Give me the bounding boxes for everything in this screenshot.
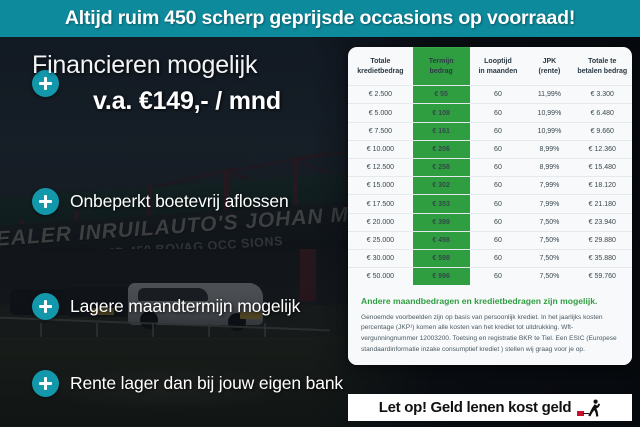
header-line: Totale te — [588, 58, 616, 65]
table-cell: 10,99% — [526, 122, 572, 140]
table-cell: 8,99% — [526, 159, 572, 177]
rates-table: Totale kredietbedrag Termijn bedrag Loop… — [348, 47, 632, 285]
table-cell: 7,50% — [526, 213, 572, 231]
plus-icon — [32, 188, 59, 215]
cell-termijn-bedrag: € 206 — [413, 140, 470, 158]
table-cell: 60 — [470, 231, 527, 249]
header-line: bedrag — [429, 68, 452, 75]
table-cell: € 5.000 — [348, 104, 413, 122]
bullet-label: Onbeperkt boetevrij aflossen — [70, 191, 289, 212]
table-cell: € 35.880 — [573, 249, 632, 267]
rates-table-head: Totale kredietbedrag Termijn bedrag Loop… — [348, 48, 632, 86]
table-cell: € 12.500 — [348, 159, 413, 177]
table-cell: 60 — [470, 249, 527, 267]
table-cell: € 59.760 — [573, 268, 632, 286]
table-row: € 2.500€ 556011,99%€ 3.300 — [348, 86, 632, 104]
column-header-jpk: JPK (rente) — [526, 48, 572, 86]
disclaimer-body: Genoemde voorbeelden zijn op basis van p… — [361, 313, 619, 356]
table-cell: 60 — [470, 140, 527, 158]
table-cell: 7,50% — [526, 231, 572, 249]
table-cell: 7,50% — [526, 249, 572, 267]
table-cell: 60 — [470, 86, 527, 104]
disclaimer-title: Andere maandbedragen en kredietbedragen … — [361, 296, 619, 307]
table-cell: 60 — [470, 213, 527, 231]
table-row: € 15.000€ 302607,99%€ 18.120 — [348, 177, 632, 195]
credit-warning-strip: Let op! Geld lenen kost geld — [348, 394, 632, 421]
table-cell: € 3.300 — [573, 86, 632, 104]
cell-termijn-bedrag: € 302 — [413, 177, 470, 195]
table-cell: € 15.000 — [348, 177, 413, 195]
table-cell: 60 — [470, 104, 527, 122]
cell-termijn-bedrag: € 55 — [413, 86, 470, 104]
header-line: Termijn — [429, 58, 454, 65]
table-cell: 60 — [470, 268, 527, 286]
header-line: betalen bedrag — [577, 68, 627, 75]
bullet-item-rente: Rente lager dan bij jouw eigen bank — [32, 370, 343, 397]
table-cell: € 21.180 — [573, 195, 632, 213]
table-row: € 12.500€ 258608,99%€ 15.480 — [348, 159, 632, 177]
table-cell: 8,99% — [526, 140, 572, 158]
rates-card: Totale kredietbedrag Termijn bedrag Loop… — [348, 47, 632, 365]
table-cell: 60 — [470, 122, 527, 140]
table-row: € 17.500€ 353607,99%€ 21.180 — [348, 195, 632, 213]
table-cell: 11,99% — [526, 86, 572, 104]
table-cell: 60 — [470, 159, 527, 177]
headline-block: Financieren mogelijk v.a. €149,- / mnd — [32, 51, 342, 116]
cell-termijn-bedrag: € 996 — [413, 268, 470, 286]
card-disclaimer: Andere maandbedragen en kredietbedragen … — [348, 285, 632, 365]
running-man-warning-icon — [577, 399, 601, 417]
table-row: € 30.000€ 598607,50%€ 35.880 — [348, 249, 632, 267]
table-cell: € 50.000 — [348, 268, 413, 286]
header-line: Looptijd — [484, 58, 512, 65]
cell-termijn-bedrag: € 258 — [413, 159, 470, 177]
bullet-item-aflossen: Onbeperkt boetevrij aflossen — [32, 188, 289, 215]
header-line: kredietbedrag — [357, 68, 403, 75]
table-cell: € 30.000 — [348, 249, 413, 267]
table-row: € 5.000€ 1086010,99%€ 6.480 — [348, 104, 632, 122]
table-cell: € 15.480 — [573, 159, 632, 177]
table-cell: 7,50% — [526, 268, 572, 286]
table-row: € 7.500€ 1616010,99%€ 9.660 — [348, 122, 632, 140]
table-cell: € 7.500 — [348, 122, 413, 140]
table-cell: 60 — [470, 177, 527, 195]
table-header-row: Totale kredietbedrag Termijn bedrag Loop… — [348, 48, 632, 86]
table-row: € 20.000€ 399607,50%€ 23.940 — [348, 213, 632, 231]
table-cell: € 20.000 — [348, 213, 413, 231]
rates-table-body: € 2.500€ 556011,99%€ 3.300€ 5.000€ 10860… — [348, 86, 632, 286]
table-cell: 10,99% — [526, 104, 572, 122]
table-cell: € 18.120 — [573, 177, 632, 195]
table-cell: 7,99% — [526, 195, 572, 213]
header-line: in maanden — [478, 68, 517, 75]
table-cell: € 17.500 — [348, 195, 413, 213]
table-cell: € 23.940 — [573, 213, 632, 231]
table-cell: € 29.880 — [573, 231, 632, 249]
cell-termijn-bedrag: € 353 — [413, 195, 470, 213]
table-cell: 7,99% — [526, 177, 572, 195]
top-banner-bar: Altijd ruim 450 scherp geprijsde occasio… — [0, 0, 640, 37]
cell-termijn-bedrag: € 399 — [413, 213, 470, 231]
headline-line-2: v.a. €149,- / mnd — [32, 87, 342, 116]
table-cell: € 9.660 — [573, 122, 632, 140]
column-header-termijn-bedrag: Termijn bedrag — [413, 48, 470, 86]
plus-icon — [32, 370, 59, 397]
credit-warning-text: Let op! Geld lenen kost geld — [379, 399, 571, 416]
table-cell: € 25.000 — [348, 231, 413, 249]
table-cell: € 6.480 — [573, 104, 632, 122]
left-content-column: Financieren mogelijk Financieren mogelij… — [0, 37, 345, 427]
cell-termijn-bedrag: € 161 — [413, 122, 470, 140]
cell-termijn-bedrag: € 598 — [413, 249, 470, 267]
bullet-label: Lagere maandtermijn mogelijk — [70, 296, 300, 317]
table-row: € 10.000€ 206608,99%€ 12.360 — [348, 140, 632, 158]
header-line: Totale — [370, 58, 390, 65]
advertisement-banner: Altijd ruim 450 scherp geprijsde occasio… — [0, 0, 640, 427]
cell-termijn-bedrag: € 108 — [413, 104, 470, 122]
column-header-totale-te-betalen: Totale te betalen bedrag — [573, 48, 632, 86]
column-header-looptijd: Looptijd in maanden — [470, 48, 527, 86]
table-row: € 25.000€ 498607,50%€ 29.880 — [348, 231, 632, 249]
header-line: (rente) — [539, 68, 561, 75]
table-cell: € 2.500 — [348, 86, 413, 104]
cell-termijn-bedrag: € 498 — [413, 231, 470, 249]
header-line: JPK — [543, 58, 557, 65]
table-cell: € 12.360 — [573, 140, 632, 158]
bullet-label: Rente lager dan bij jouw eigen bank — [70, 373, 343, 394]
table-cell: € 10.000 — [348, 140, 413, 158]
headline-line-1: Financieren mogelijk — [32, 51, 342, 80]
table-row: € 50.000€ 996607,50%€ 59.760 — [348, 268, 632, 286]
bullet-item-maandtermijn: Lagere maandtermijn mogelijk — [32, 293, 300, 320]
plus-icon — [32, 293, 59, 320]
column-header-totale-kredietbedrag: Totale kredietbedrag — [348, 48, 413, 86]
top-banner-text: Altijd ruim 450 scherp geprijsde occasio… — [65, 7, 575, 30]
table-cell: 60 — [470, 195, 527, 213]
